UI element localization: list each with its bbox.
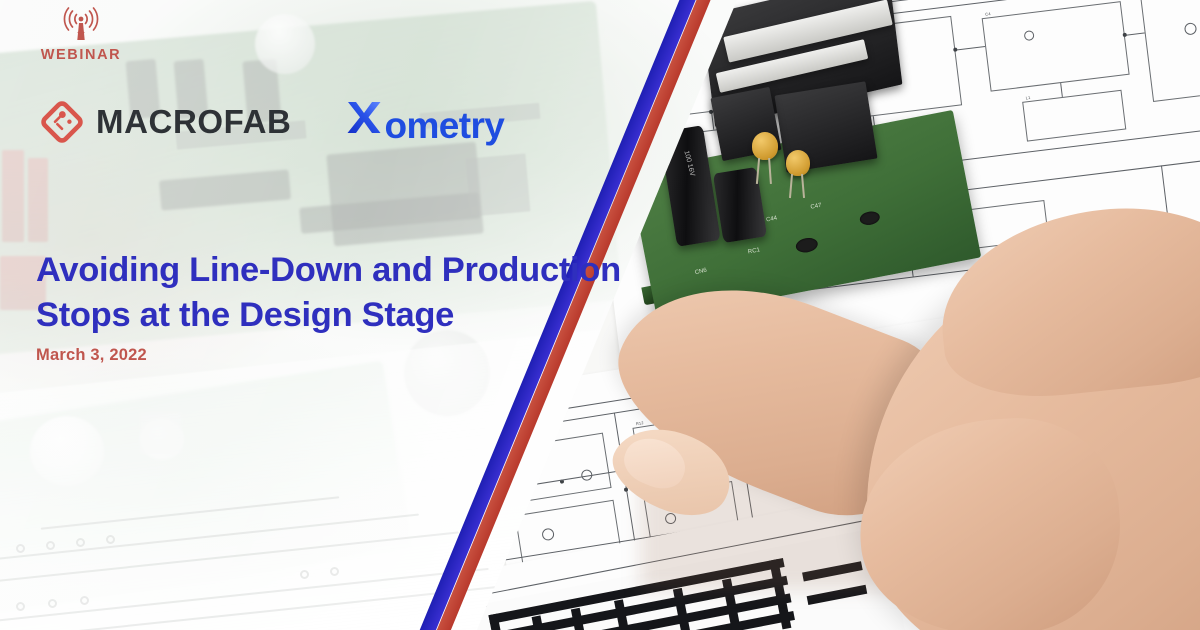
ceramic-capacitor (786, 150, 810, 176)
pcb-silkscreen-label: C44 (766, 215, 778, 223)
macrofab-diamond-icon (40, 100, 84, 144)
broadcast-antenna-icon (53, 6, 109, 46)
xometry-logo[interactable]: ometry (343, 96, 504, 147)
pcb-mounting-hole (795, 236, 819, 254)
page-title-line-1: Avoiding Line-Down and Production (36, 251, 621, 289)
macrofab-wordmark: MACROFAB (96, 103, 291, 141)
xometry-wordmark: ometry (384, 105, 504, 147)
pcb-silkscreen-label: RC1 (748, 247, 761, 255)
page-title: Avoiding Line-Down and Production Stops … (36, 248, 636, 337)
macrofab-logo[interactable]: MACROFAB (40, 100, 291, 144)
logo-row: MACROFAB ometry (40, 96, 504, 147)
page-title-line-2: Stops at the Design Stage (36, 296, 454, 334)
pcb-silkscreen-label: C47 (810, 203, 822, 211)
webinar-badge-label: WEBINAR (26, 47, 136, 63)
webinar-banner: R1 IC1 C4 Q2 D3 L1 (0, 0, 1200, 630)
webinar-badge: WEBINAR (26, 6, 136, 63)
xometry-x-icon (343, 96, 385, 138)
webinar-date: March 3, 2022 (36, 346, 147, 365)
pcb-mounting-hole (859, 210, 881, 227)
pcb-silkscreen-label: CN6 (694, 268, 707, 277)
ceramic-capacitor (752, 132, 778, 160)
